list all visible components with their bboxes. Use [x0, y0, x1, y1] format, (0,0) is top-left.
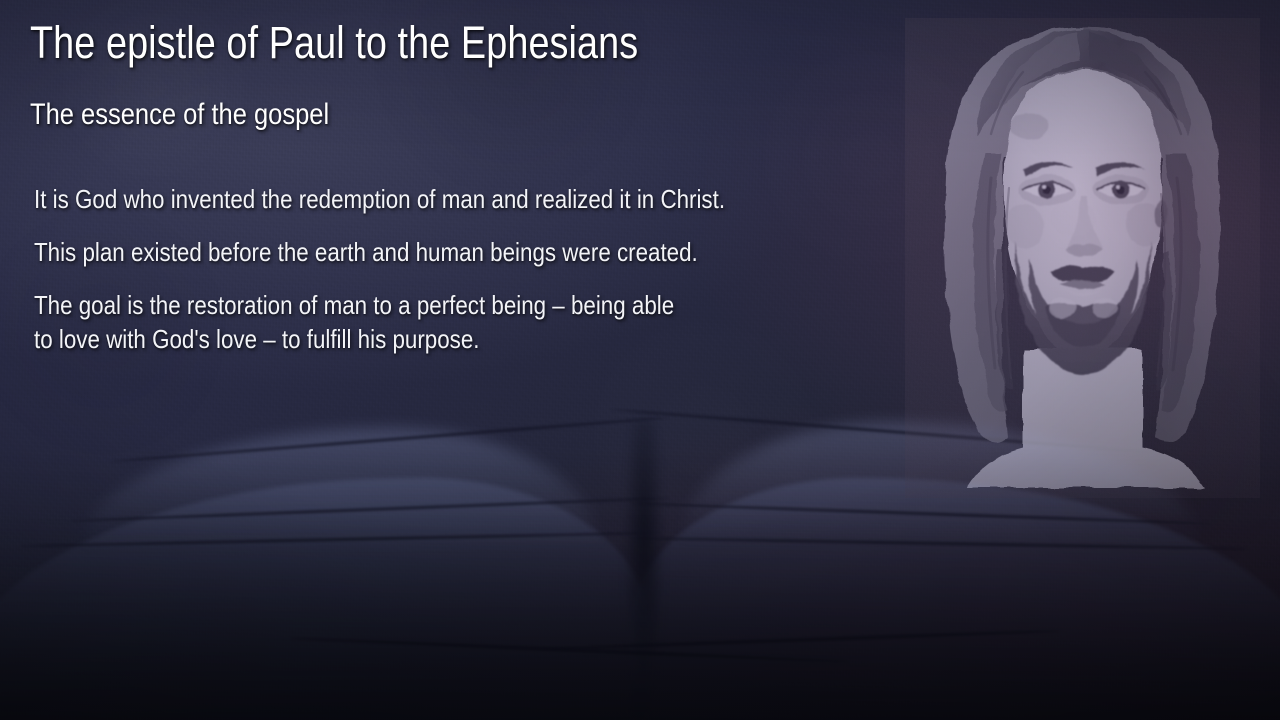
body-paragraph-3: The goal is the restoration of man to a … [34, 288, 808, 356]
body-paragraph-3-line-1: The goal is the restoration of man to a … [34, 288, 808, 322]
body-paragraph-2: This plan existed before the earth and h… [34, 235, 808, 269]
body-paragraph-3-line-2: to love with God's love – to fulfill his… [34, 322, 808, 356]
portrait-color-tint [905, 18, 1260, 498]
slide-body-text: It is God who invented the redemption of… [34, 182, 934, 356]
bible-shadow [0, 520, 1280, 720]
body-paragraph-1: It is God who invented the redemption of… [34, 182, 808, 216]
slide-subtitle: The essence of the gospel [30, 98, 329, 132]
presentation-slide: The epistle of Paul to the Ephesians The… [0, 0, 1280, 720]
slide-title: The epistle of Paul to the Ephesians [30, 17, 638, 69]
